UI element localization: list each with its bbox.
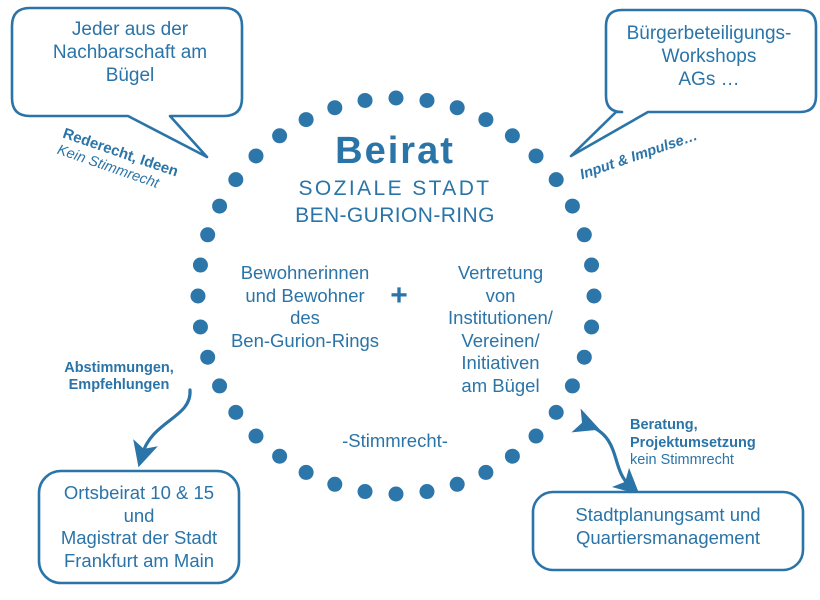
ring-dot	[272, 449, 287, 464]
ring-dot	[549, 172, 564, 187]
ring-dot	[193, 258, 208, 273]
ring-dot	[200, 350, 215, 365]
ring-column-left-bewohner: Bewohnerinnen und Bewohner des Ben-Gurio…	[215, 262, 395, 352]
plus-sign: +	[386, 278, 412, 315]
ring-dot	[327, 477, 342, 492]
arrow-beratung-projektumsetzung	[588, 425, 630, 486]
box-ortsbeirat-magistrat-text: Ortsbeirat 10 & 15 und Magistrat der Sta…	[44, 482, 234, 572]
box-stadtplanungsamt-quartiersmanagement-text: Stadtplanungsamt und Quartiersmanagement	[540, 504, 796, 549]
ring-dot	[327, 100, 342, 115]
ring-dot	[419, 93, 434, 108]
ring-dot	[478, 112, 493, 127]
connector-label-beratung: Beratung, Projektumsetzung kein Stimmrec…	[630, 400, 790, 487]
ring-dot	[299, 112, 314, 127]
ring-footer-stimmrecht: -Stimmrecht-	[300, 430, 490, 453]
connector-label-abstimmungen: Abstimmungen, Empfehlungen	[44, 360, 194, 395]
ring-column-right-vertretung: Vertretung von Institutionen/ Vereinen/ …	[418, 262, 583, 397]
ring-dot	[577, 227, 592, 242]
speech-bubble-top-left-text: Jeder aus der Nachbarschaft am Bügel	[24, 18, 236, 88]
ring-dot	[358, 484, 373, 499]
ring-subtitle-soziale-stadt: SOZIALE STADT	[255, 176, 535, 202]
speech-bubble-top-right-text: Bürgerbeteiligungs- Workshops AGs …	[608, 22, 810, 92]
ring-dot	[389, 487, 404, 502]
ring-dot	[505, 449, 520, 464]
ring-dot	[587, 289, 602, 304]
ring-title: Beirat	[255, 128, 535, 174]
connector-label-beratung-bold: Beratung, Projektumsetzung	[630, 417, 756, 450]
diagram-canvas: Jeder aus der Nachbarschaft am Bügel Bür…	[0, 0, 820, 600]
ring-dot	[191, 289, 206, 304]
ring-dot	[358, 93, 373, 108]
connector-label-beratung-normal: kein Stimmrecht	[630, 452, 790, 469]
ring-dot	[565, 199, 580, 214]
arrow-abstimmungen-empfehlungen	[142, 390, 190, 455]
ring-dot	[193, 319, 208, 334]
ring-dot	[450, 477, 465, 492]
ring-dot	[450, 100, 465, 115]
ring-dot	[419, 484, 434, 499]
ring-subtitle-ben-gurion-ring: BEN-GURION-RING	[255, 203, 535, 229]
ring-dot	[584, 258, 599, 273]
ring-dot	[389, 91, 404, 106]
ring-dot	[529, 429, 544, 444]
ring-dot	[228, 405, 243, 420]
ring-dot	[299, 465, 314, 480]
ring-dot	[248, 429, 263, 444]
ring-dot	[549, 405, 564, 420]
ring-dot	[212, 378, 227, 393]
ring-dot	[584, 319, 599, 334]
ring-dot	[478, 465, 493, 480]
